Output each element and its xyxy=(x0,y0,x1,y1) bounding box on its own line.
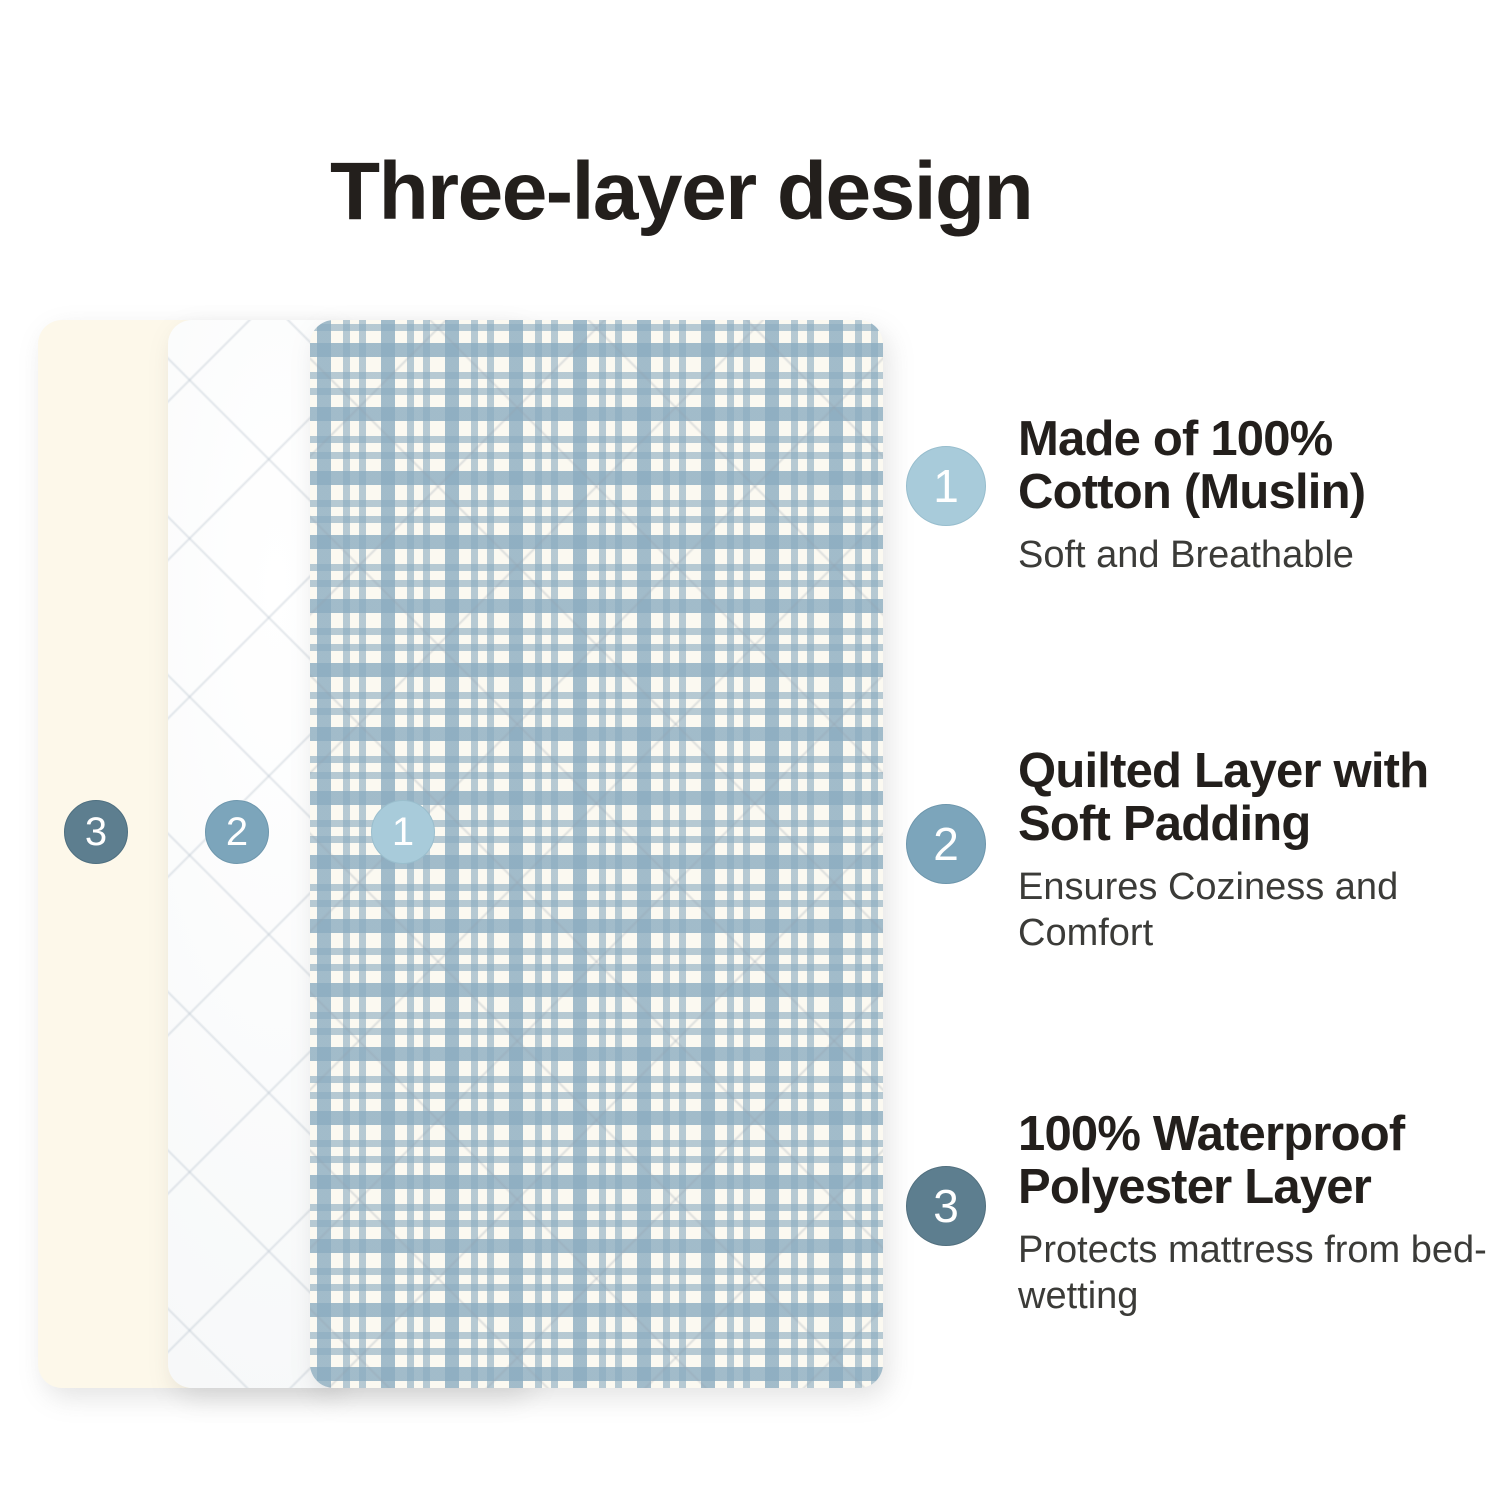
layer-badge-2: 2 xyxy=(205,800,269,864)
feature-title-3: 100% Waterproof Polyester Layer xyxy=(1018,1108,1488,1215)
layer-badge-3: 3 xyxy=(64,800,128,864)
layer-badge-1: 1 xyxy=(371,800,435,864)
feature-title-1: Made of 100% Cotton (Muslin) xyxy=(1018,413,1488,520)
feature-item-2: Quilted Layer with Soft Padding Ensures … xyxy=(1018,745,1488,957)
feature-description-1: Soft and Breathable xyxy=(1018,532,1488,578)
feature-badge-3: 3 xyxy=(906,1166,986,1246)
feature-badge-2: 2 xyxy=(906,804,986,884)
feature-description-2: Ensures Coziness and Comfort xyxy=(1018,864,1488,957)
feature-item-3: 100% Waterproof Polyester Layer Protects… xyxy=(1018,1108,1488,1320)
feature-description-3: Protects mattress from bed-wetting xyxy=(1018,1227,1488,1320)
feature-item-1: Made of 100% Cotton (Muslin) Soft and Br… xyxy=(1018,413,1488,578)
feature-badge-1: 1 xyxy=(906,446,986,526)
product-layer-illustration: 3 2 1 xyxy=(0,0,960,1460)
feature-title-2: Quilted Layer with Soft Padding xyxy=(1018,745,1488,852)
